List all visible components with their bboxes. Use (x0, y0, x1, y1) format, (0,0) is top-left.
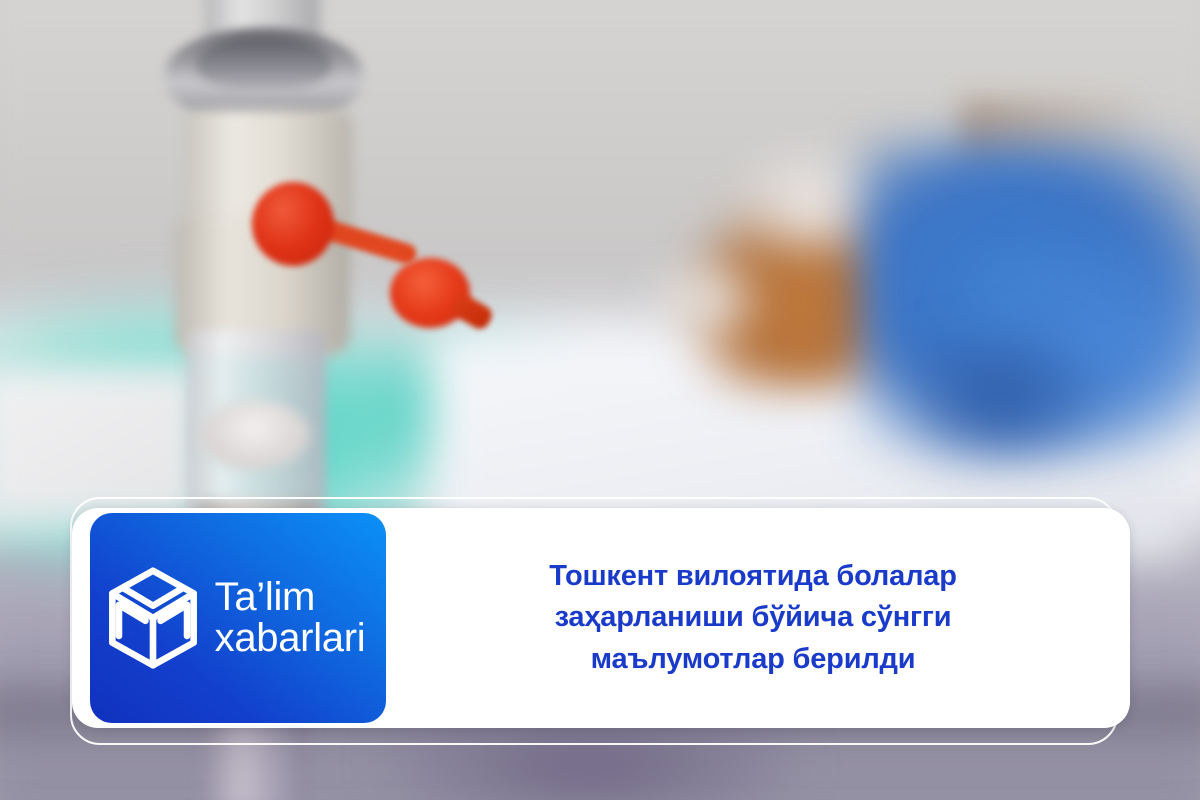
bg-white-left (0, 360, 210, 530)
bg-blue-blanket-shadow (900, 330, 1100, 470)
brand-name-line1: Ta’lim (215, 577, 366, 618)
brand-name-line2: xabarlari (215, 618, 366, 659)
iv-fluid (198, 400, 310, 470)
news-card: Ta’lim xabarlari Тошкент вилоятида болал… (72, 508, 1130, 728)
news-headline: Тошкент вилоятида болалар заҳарланиши бў… (483, 556, 1023, 680)
bg-bottom-purple (380, 720, 800, 800)
iv-collar-inner (196, 36, 332, 92)
brand-logo-tile[interactable]: Ta’lim xabarlari (90, 513, 386, 723)
hexagon-cube-icon (105, 566, 201, 670)
news-card-image: Ta’lim xabarlari Тошкент вилоятида болал… (0, 0, 1200, 800)
brand-wordmark: Ta’lim xabarlari (215, 577, 366, 659)
iv-red-port-primary (252, 182, 334, 266)
bg-teddy-arm (640, 250, 770, 350)
headline-container: Тошкент вилоятида болалар заҳарланиши бў… (386, 556, 1130, 680)
